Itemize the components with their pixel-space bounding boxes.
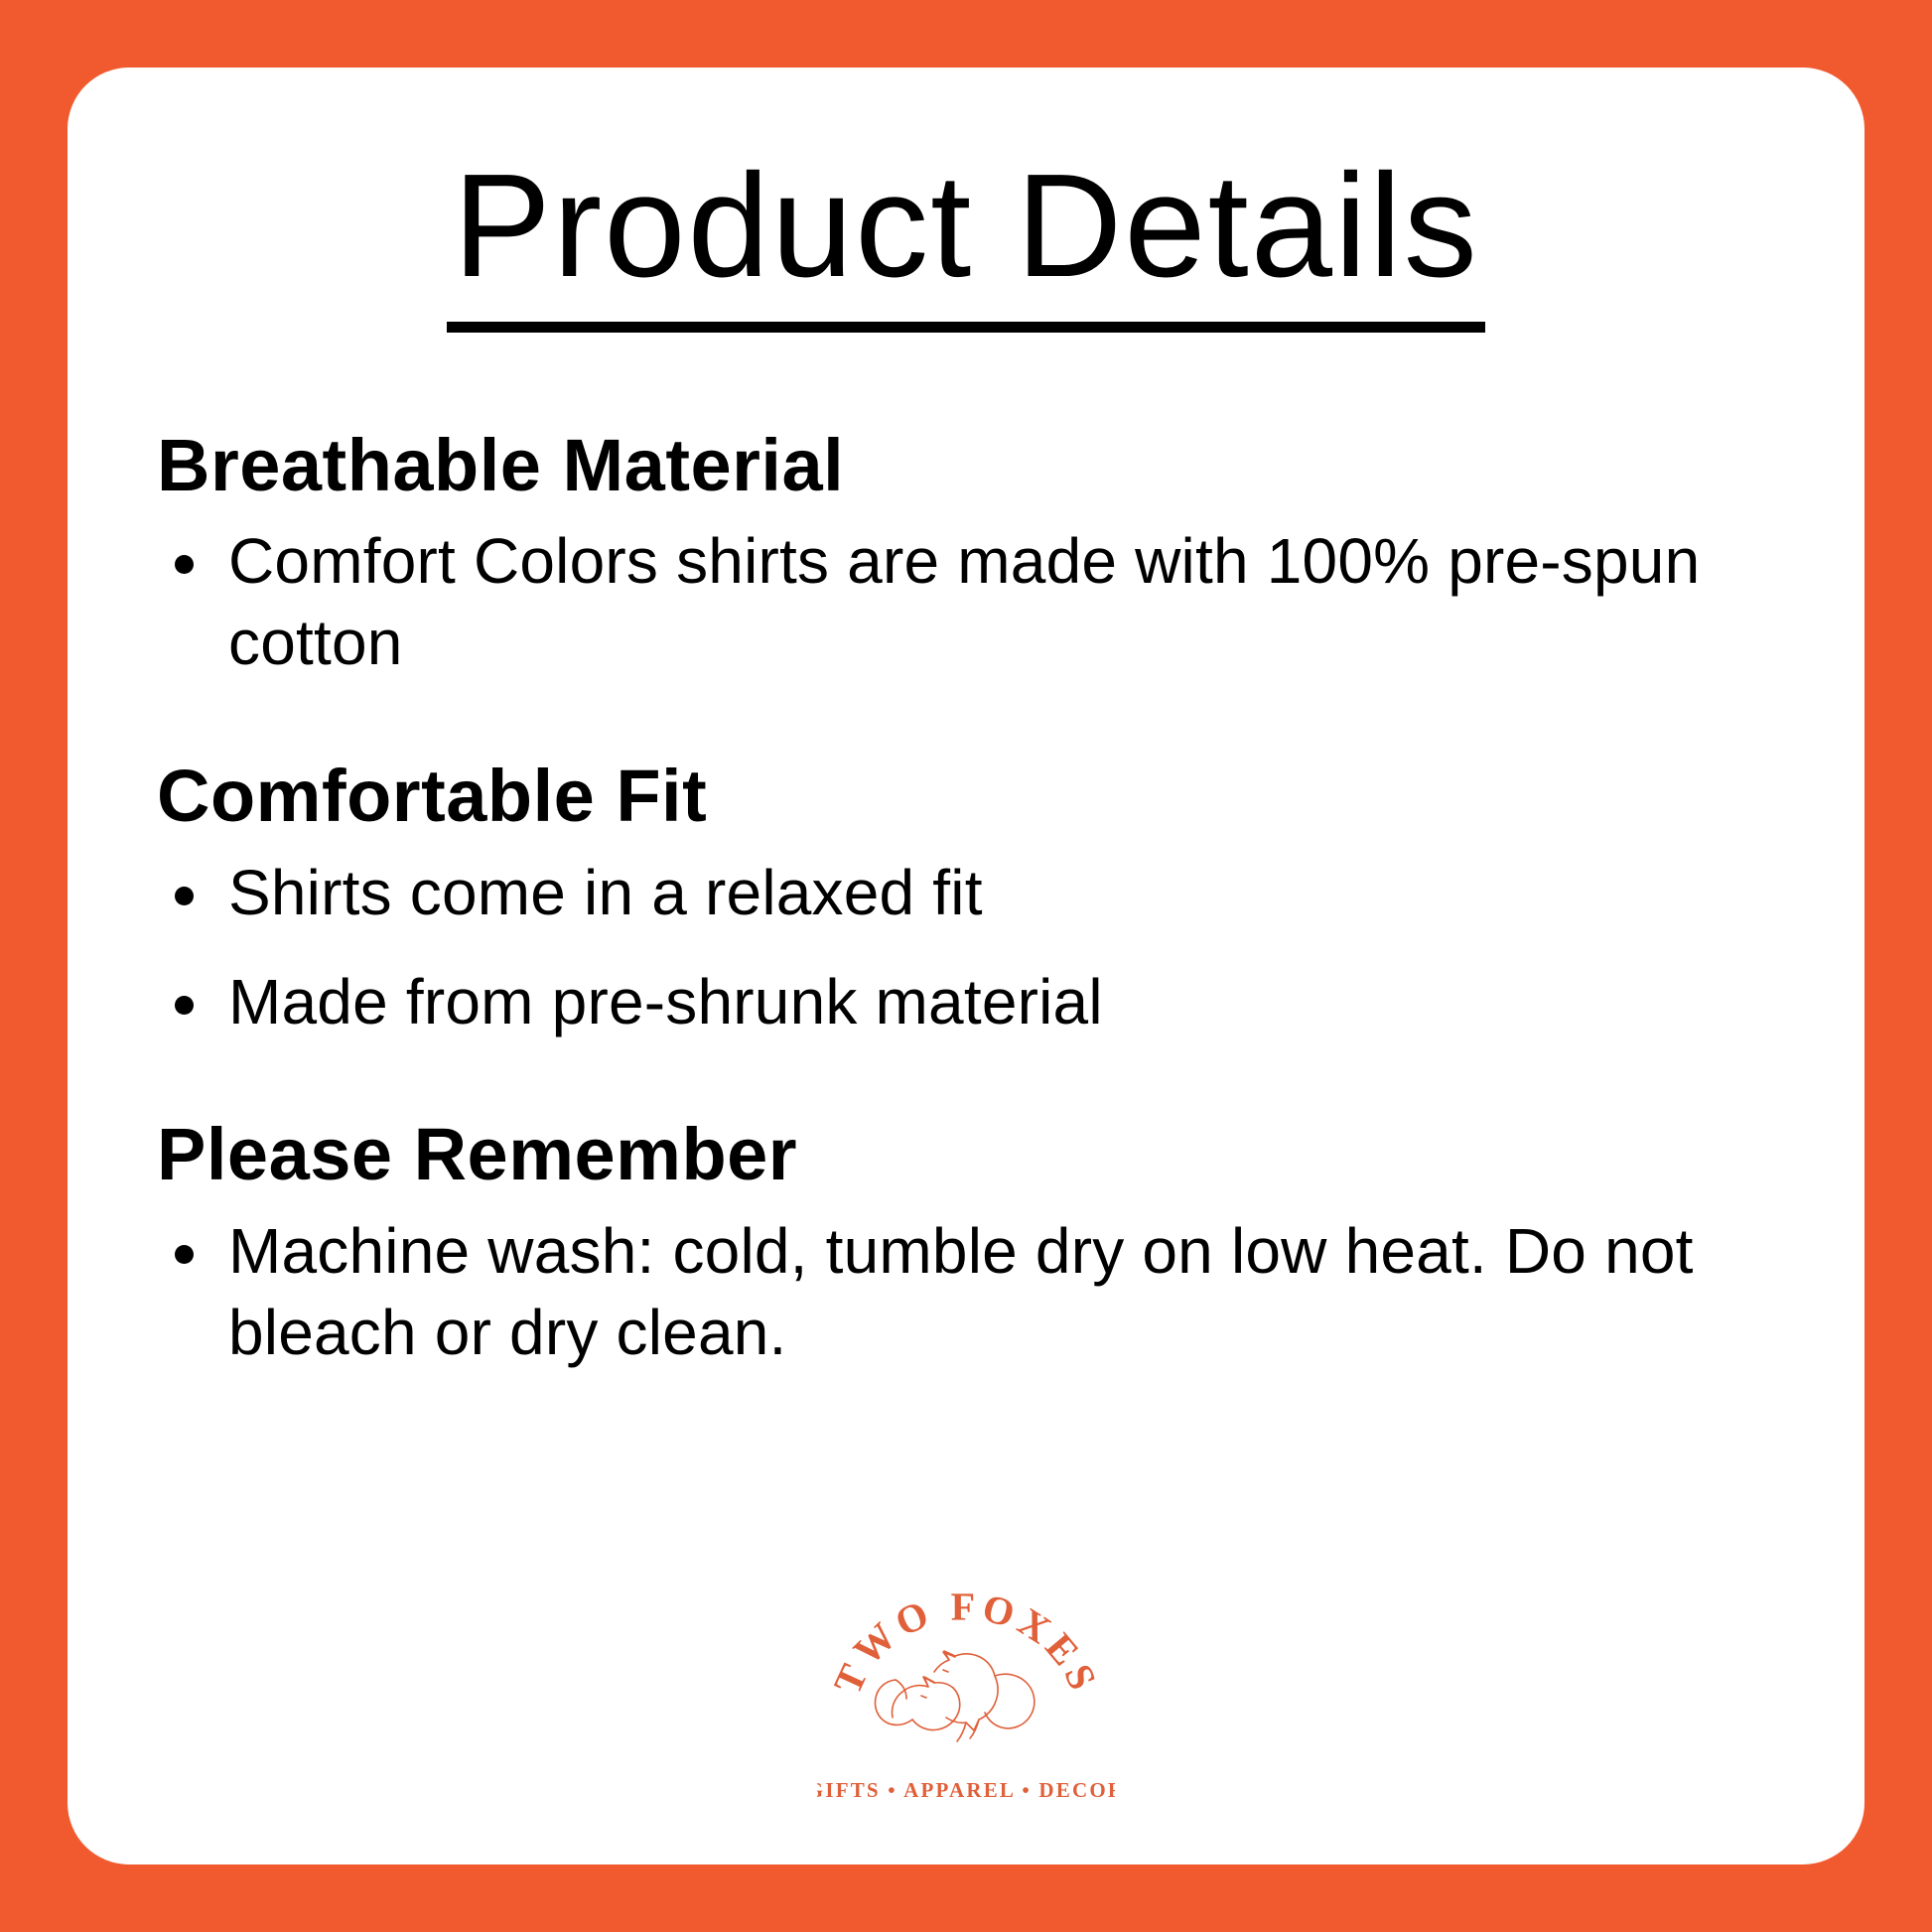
- section-heading: Breathable Material: [157, 425, 1785, 505]
- bullet-list: Comfort Colors shirts are made with 100%…: [157, 521, 1785, 684]
- poster-canvas: Product Details Breathable Material Comf…: [0, 0, 1932, 1932]
- list-item-text: Made from pre-shrunk material: [228, 966, 1103, 1037]
- two-foxes-logo-icon: TWO FOXES: [817, 1585, 1115, 1813]
- section-heading: Please Remember: [157, 1114, 1785, 1194]
- list-item: Made from pre-shrunk material: [157, 962, 1785, 1043]
- brand-logo: TWO FOXES: [817, 1585, 1115, 1813]
- list-item: Comfort Colors shirts are made with 100%…: [157, 521, 1785, 684]
- list-item: Shirts come in a relaxed fit: [157, 853, 1785, 934]
- page-title: Product Details: [447, 147, 1485, 333]
- list-item-text: Machine wash: cold, tumble dry on low he…: [228, 1215, 1694, 1368]
- section-heading: Comfortable Fit: [157, 756, 1785, 836]
- details-content: Breathable Material Comfort Colors shirt…: [157, 425, 1785, 1374]
- list-item-text: Shirts come in a relaxed fit: [228, 857, 983, 928]
- brand-tagline: GIFTS • APPAREL • DECOR: [817, 1778, 1115, 1802]
- section-please-remember: Please Remember Machine wash: cold, tumb…: [157, 1114, 1785, 1373]
- bullet-list: Machine wash: cold, tumble dry on low he…: [157, 1211, 1785, 1374]
- page-title-container: Product Details: [68, 147, 1864, 333]
- content-card: Product Details Breathable Material Comf…: [68, 68, 1864, 1864]
- section-comfortable-fit: Comfortable Fit Shirts come in a relaxed…: [157, 756, 1785, 1042]
- fox-illustration: [875, 1651, 1034, 1741]
- bullet-dot-icon: [175, 996, 194, 1015]
- bullet-dot-icon: [175, 887, 194, 905]
- list-item: Machine wash: cold, tumble dry on low he…: [157, 1211, 1785, 1374]
- list-item-text: Comfort Colors shirts are made with 100%…: [228, 525, 1700, 678]
- bullet-list: Shirts come in a relaxed fit Made from p…: [157, 853, 1785, 1043]
- section-breathable-material: Breathable Material Comfort Colors shirt…: [157, 425, 1785, 684]
- brand-arc-text: TWO FOXES: [825, 1585, 1108, 1701]
- bullet-dot-icon: [175, 1245, 194, 1264]
- bullet-dot-icon: [175, 555, 194, 574]
